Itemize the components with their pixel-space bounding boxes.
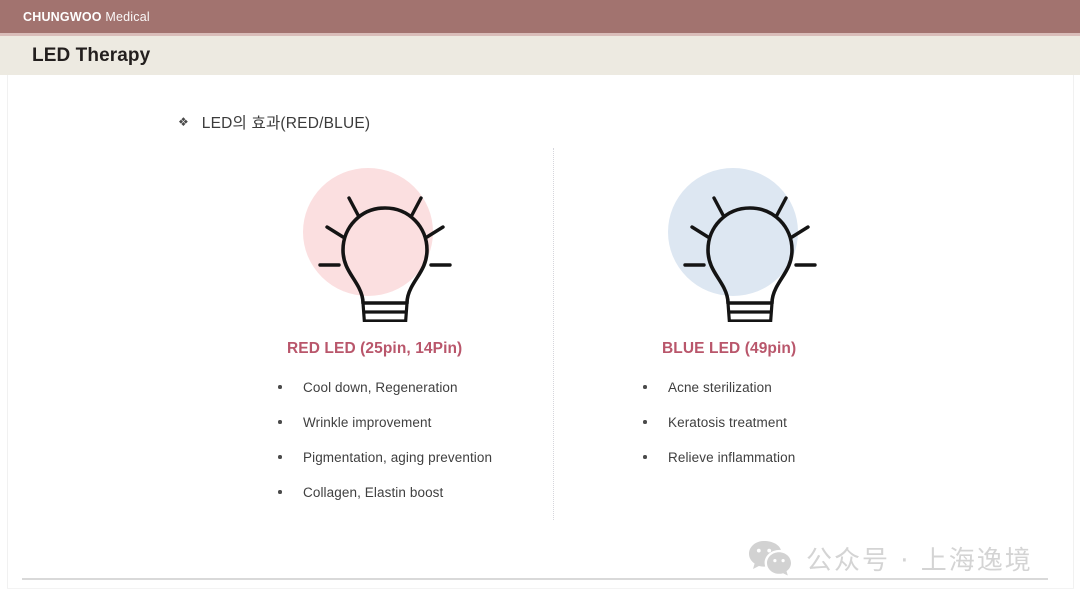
list-item: Keratosis treatment [640, 415, 900, 430]
bullet-dot-icon [278, 385, 282, 389]
led-label-blue: BLUE LED (49pin) [600, 340, 900, 358]
column-divider [553, 148, 554, 520]
bullet-dot-icon [278, 455, 282, 459]
list-item-label: Collagen, Elastin boost [303, 485, 443, 500]
bullet-dot-icon [643, 420, 647, 424]
brand-logo: CHUNGWOO Medical [23, 10, 150, 24]
diamond-bullet-icon: ❖ [178, 116, 189, 128]
list-item-label: Cool down, Regeneration [303, 380, 458, 395]
bullet-dot-icon [278, 490, 282, 494]
bullet-dot-icon [643, 455, 647, 459]
bullet-dot-icon [278, 420, 282, 424]
list-item: Pigmentation, aging prevention [275, 450, 535, 465]
page-frame-left [7, 75, 8, 588]
column-blue-led: BLUE LED (49pin) Acne sterilization Kera… [600, 160, 900, 485]
led-label-red: RED LED (25pin, 14Pin) [235, 340, 535, 358]
list-item-label: Keratosis treatment [668, 415, 787, 430]
brand-logo-primary: CHUNGWOO [23, 10, 102, 24]
slide-title-band: LED Therapy [0, 36, 1080, 75]
list-item: Cool down, Regeneration [275, 380, 535, 395]
list-item-label: Acne sterilization [668, 380, 772, 395]
list-item: Acne sterilization [640, 380, 900, 395]
list-item-label: Wrinkle improvement [303, 415, 431, 430]
list-item: Relieve inflammation [640, 450, 900, 465]
lightbulb-illustration-red [235, 160, 535, 330]
section-heading-label: LED의 효과(RED/BLUE) [202, 111, 371, 133]
brand-header-bar: CHUNGWOO Medical [0, 0, 1080, 33]
wechat-icon [748, 539, 792, 577]
watermark: 公众号 · 上海逸境 [748, 539, 1033, 577]
lightbulb-icon-red [317, 172, 453, 322]
brand-logo-secondary: Medical [102, 10, 150, 24]
section-heading: ❖ LED의 효과(RED/BLUE) [178, 111, 370, 133]
list-item-label: Pigmentation, aging prevention [303, 450, 492, 465]
feature-list-red: Cool down, Regeneration Wrinkle improvem… [235, 380, 535, 500]
list-item: Wrinkle improvement [275, 415, 535, 430]
column-red-led: RED LED (25pin, 14Pin) Cool down, Regene… [235, 160, 535, 520]
list-item-label: Relieve inflammation [668, 450, 795, 465]
lightbulb-illustration-blue [600, 160, 900, 330]
feature-list-blue: Acne sterilization Keratosis treatment R… [600, 380, 900, 465]
page-frame-bottom [7, 588, 1074, 589]
watermark-text: 公众号 · 上海逸境 [806, 540, 1033, 577]
page-frame-right [1073, 75, 1074, 588]
footer-rule [22, 578, 1048, 580]
bullet-dot-icon [643, 385, 647, 389]
slide: CHUNGWOO Medical LED Therapy ❖ LED의 효과(R… [0, 0, 1080, 607]
lightbulb-icon-blue [682, 172, 818, 322]
page-title: LED Therapy [32, 45, 150, 67]
list-item: Collagen, Elastin boost [275, 485, 535, 500]
